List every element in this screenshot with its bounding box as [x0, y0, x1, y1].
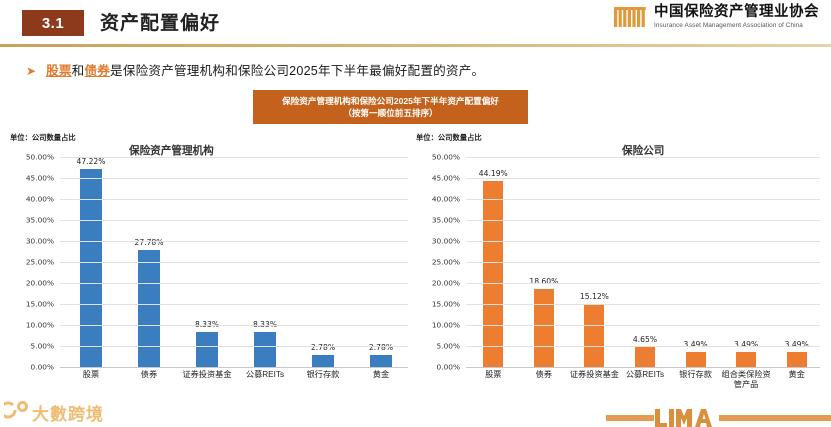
bar-value-label: 3.49% [785, 340, 809, 349]
y-axis-tick: 30.00% [26, 237, 54, 246]
chart-title-left: 保险资产管理机构 [129, 143, 214, 158]
gridline [466, 178, 820, 179]
chart-panel-asset-management: 单位：公司数量占比 保险资产管理机构 50.00%45.00%40.00%35.… [4, 133, 416, 401]
bar[interactable] [196, 332, 218, 367]
gridline [60, 241, 408, 242]
x-axis-label: 债券 [519, 370, 570, 391]
bar[interactable] [584, 304, 604, 368]
bullet-rest: 是保险资产管理机构和保险公司2025年下半年最偏好配置的资产。 [110, 64, 484, 78]
gridline [60, 304, 408, 305]
y-axis-tick: 10.00% [26, 321, 54, 330]
gridline [466, 283, 820, 284]
watermark-logo-icon [4, 400, 30, 425]
chart-unit-label-right: 单位：公司数量占比 [416, 133, 482, 143]
bar-value-label: 47.22% [77, 157, 106, 166]
x-axis-labels-left: 股票债券证券投资基金公募REITs银行存款黄金 [62, 370, 410, 380]
gridline [60, 262, 408, 263]
x-axis-labels-right: 股票债券证券投资基金公募REITs银行存款组合类保险资管产品黄金 [468, 370, 822, 391]
gridline [466, 304, 820, 305]
y-axis-tick: 20.00% [432, 279, 460, 288]
x-axis-label: 黄金 [352, 370, 410, 380]
association-logo: 中国保险资产管理业协会 Insurance Asset Management A… [613, 4, 819, 30]
gridline [60, 283, 408, 284]
y-axis-tick: 50.00% [432, 153, 460, 162]
bar[interactable] [138, 250, 160, 367]
y-axis-tick: 5.00% [31, 342, 54, 351]
gridline [466, 262, 820, 263]
gridline [466, 220, 820, 221]
y-axis-tick: 45.00% [432, 174, 460, 183]
footer-bar-left [606, 415, 654, 421]
footer-iamac-logo-icon [654, 407, 716, 427]
y-axis-tick: 35.00% [26, 216, 54, 225]
banner-line-1: 保险资产管理机构和保险公司2025年下半年资产配置偏好 [282, 95, 499, 107]
y-axis-tick: 5.00% [437, 342, 460, 351]
chart-title-right: 保险公司 [622, 143, 664, 158]
y-axis-tick: 40.00% [432, 195, 460, 204]
y-axis-tick: 25.00% [432, 258, 460, 267]
bar-value-label: 15.12% [580, 292, 609, 301]
bar-value-label: 2.78% [369, 343, 393, 352]
gridline [466, 241, 820, 242]
chart-banner-title: 保险资产管理机构和保险公司2025年下半年资产配置偏好 （按第一顺位前五排序） [253, 90, 528, 124]
bar-value-label: 3.49% [683, 340, 707, 349]
bullet-text: 股票和债券是保险资产管理机构和保险公司2025年下半年最偏好配置的资产。 [46, 60, 484, 79]
bar[interactable] [370, 355, 392, 367]
x-axis-label: 股票 [62, 370, 120, 380]
bullet-arrow-icon: ➤ [26, 65, 36, 77]
y-axis-tick: 10.00% [432, 321, 460, 330]
association-name-block: 中国保险资产管理业协会 Insurance Asset Management A… [654, 5, 819, 29]
bullet-statement: ➤ 股票和债券是保险资产管理机构和保险公司2025年下半年最偏好配置的资产。 [26, 60, 484, 79]
x-axis-label: 证券投资基金 [178, 370, 236, 380]
y-axis-tick: 45.00% [26, 174, 54, 183]
iamac-logo-icon [613, 4, 647, 30]
bar-value-label: 27.78% [135, 238, 164, 247]
gridline [60, 220, 408, 221]
x-axis-line [466, 367, 820, 368]
gridline [60, 346, 408, 347]
header-divider [0, 44, 831, 47]
bar[interactable] [787, 352, 807, 367]
gridline [466, 199, 820, 200]
y-axis-tick: 0.00% [437, 363, 460, 372]
x-axis-label: 证券投资基金 [569, 370, 620, 391]
x-axis-label: 股票 [468, 370, 519, 391]
x-axis-label: 黄金 [771, 370, 822, 391]
y-axis-right: 50.00%45.00%40.00%35.00%30.00%25.00%20.0… [410, 157, 466, 367]
y-axis-tick: 40.00% [26, 195, 54, 204]
bullet-highlight-stocks: 股票 [46, 64, 72, 78]
y-axis-tick: 15.00% [432, 300, 460, 309]
plot-area-right: 50.00%45.00%40.00%35.00%30.00%25.00%20.0… [410, 157, 828, 401]
association-name-cn: 中国保险资产管理业协会 [654, 5, 819, 20]
y-axis-tick: 50.00% [26, 153, 54, 162]
y-axis-tick: 25.00% [26, 258, 54, 267]
section-number-badge: 3.1 [22, 10, 84, 36]
y-axis-tick: 0.00% [31, 363, 54, 372]
chart-panel-insurance-companies: 单位：公司数量占比 保险公司 50.00%45.00%40.00%35.00%3… [410, 133, 828, 401]
gridline [60, 178, 408, 179]
bar-value-label: 3.49% [734, 340, 758, 349]
watermark-text: 大數跨境 [32, 400, 104, 425]
bullet-highlight-bonds: 债券 [84, 64, 110, 78]
x-axis-label: 公募REITs [236, 370, 294, 380]
bar[interactable] [736, 352, 756, 367]
bar-value-label: 4.65% [633, 335, 657, 344]
bar[interactable] [635, 347, 655, 367]
bar-value-label: 2.78% [311, 343, 335, 352]
y-axis-tick: 35.00% [432, 216, 460, 225]
y-axis-left: 50.00%45.00%40.00%35.00%30.00%25.00%20.0… [4, 157, 60, 367]
x-axis-label: 银行存款 [670, 370, 721, 391]
x-axis-label: 组合类保险资管产品 [721, 370, 772, 391]
x-axis-label: 银行存款 [294, 370, 352, 380]
gridline [466, 157, 820, 158]
x-axis-label: 债券 [120, 370, 178, 380]
banner-line-2: （按第一顺位前五排序） [343, 107, 438, 119]
chart-unit-label-left: 单位：公司数量占比 [10, 133, 76, 143]
y-axis-tick: 20.00% [26, 279, 54, 288]
slide-root: 3.1 资产配置偏好 中国保险资产管理业协会 Insurance Asset M… [0, 0, 831, 427]
x-axis-label: 公募REITs [620, 370, 671, 391]
gridline [466, 346, 820, 347]
y-axis-tick: 30.00% [432, 237, 460, 246]
gridline [60, 199, 408, 200]
gridline [60, 325, 408, 326]
bar[interactable] [254, 332, 276, 367]
bar[interactable] [312, 355, 334, 367]
page-title: 资产配置偏好 [100, 8, 220, 35]
gridline [466, 325, 820, 326]
bar[interactable] [483, 181, 503, 367]
bar[interactable] [534, 289, 554, 367]
y-axis-tick: 15.00% [26, 300, 54, 309]
gridline [60, 157, 408, 158]
plot-area-left: 50.00%45.00%40.00%35.00%30.00%25.00%20.0… [4, 157, 416, 401]
watermark: 大數跨境 [4, 400, 104, 425]
association-name-en: Insurance Asset Management Association o… [654, 22, 819, 29]
x-axis-line [60, 367, 408, 368]
footer-bar-right [719, 415, 831, 421]
bar-value-label: 18.60% [529, 277, 558, 286]
bar[interactable] [686, 352, 706, 367]
bullet-conjunction: 和 [72, 64, 85, 78]
slide-footer [0, 407, 831, 427]
